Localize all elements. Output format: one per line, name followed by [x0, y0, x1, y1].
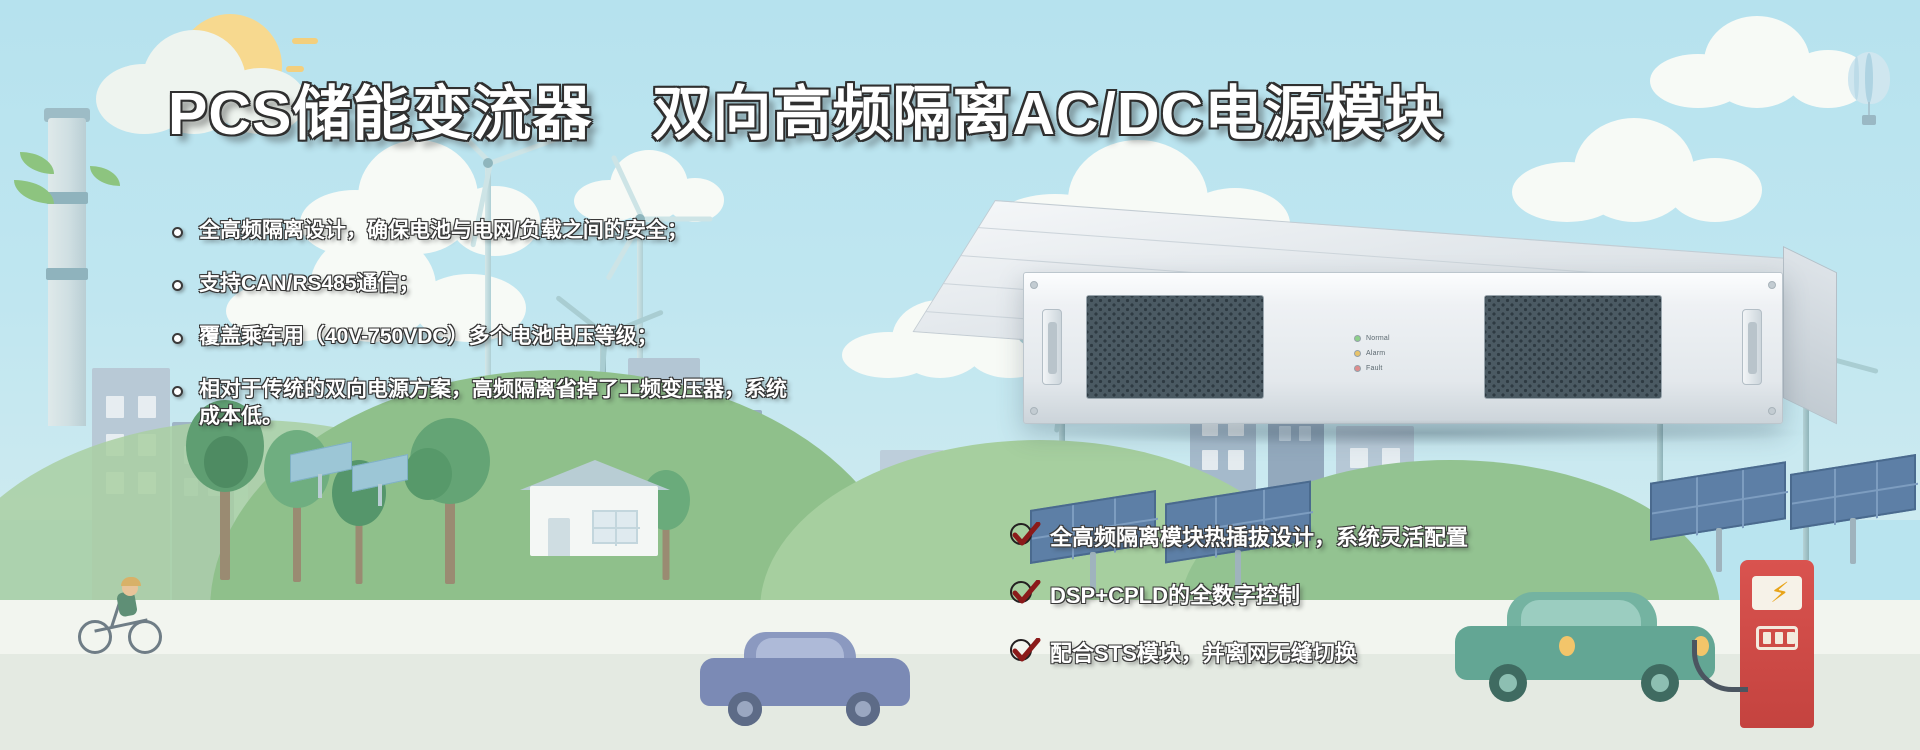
promotional-banner: ⚡ Normal	[0, 0, 1920, 750]
banner-title: PCS储能变流器 双向高频隔离AC/DC电源模块	[168, 66, 1444, 151]
screw-icon	[1030, 407, 1038, 415]
feature-bullet-item: 覆盖乘车用（40V-750VDC）多个电池电压等级；	[172, 324, 912, 351]
device-vent-grille-right	[1484, 295, 1662, 399]
screw-icon	[1768, 407, 1776, 415]
device-front-panel: Normal Alarm Fault	[1023, 272, 1783, 424]
solar-panel-icon	[1650, 472, 1790, 572]
ev-charging-station-icon: ⚡	[1740, 560, 1814, 728]
highlight-text: 配合STS模块，并离网无缝切换	[1050, 636, 1357, 668]
led-row-normal: Normal	[1354, 331, 1464, 346]
lightning-bolt-icon: ⚡	[1770, 578, 1790, 608]
device-vent-grille-left	[1086, 295, 1264, 399]
highlight-item: 配合STS模块，并离网无缝切换	[1010, 636, 1530, 668]
feature-bullet-item: 相对于传统的双向电源方案，高频隔离省掉了工频变压器，系统成本低。	[172, 377, 912, 431]
led-fault-label: Fault	[1366, 365, 1383, 372]
screw-icon	[1030, 281, 1038, 289]
checkmark-icon	[1010, 639, 1036, 665]
led-alarm-icon	[1354, 350, 1361, 357]
hot-air-balloon-icon	[1840, 52, 1898, 148]
feature-bullet-item: 支持CAN/RS485通信；	[172, 271, 912, 298]
solar-panel-icon	[352, 460, 410, 508]
device-side-panel	[1783, 246, 1837, 424]
highlight-item: DSP+CPLD的全数字控制	[1010, 578, 1530, 610]
feature-bullet-item: 全高频隔离设计，确保电池与电网/负载之间的安全；	[172, 218, 912, 245]
feature-bullet-text: 相对于传统的双向电源方案，高频隔离省掉了工频变压器，系统成本低。	[199, 377, 799, 431]
device-shadow	[1045, 420, 1805, 446]
highlight-text: 全高频隔离模块热插拔设计，系统灵活配置	[1050, 520, 1468, 552]
highlight-text: DSP+CPLD的全数字控制	[1050, 578, 1300, 610]
solar-panel-icon	[1790, 464, 1920, 564]
screw-icon	[1768, 281, 1776, 289]
feature-bullet-text: 覆盖乘车用（40V-750VDC）多个电池电压等级；	[199, 324, 658, 351]
device-handle-left	[1042, 309, 1062, 385]
led-alarm-label: Alarm	[1366, 350, 1385, 357]
cloud-shape	[1650, 16, 1870, 108]
device-handle-right	[1742, 309, 1762, 385]
bullet-dot-icon	[172, 386, 183, 397]
bullet-dot-icon	[172, 227, 183, 238]
pcs-device-image: Normal Alarm Fault	[955, 200, 1865, 470]
bullet-dot-icon	[172, 333, 183, 344]
cyclist-icon	[78, 580, 170, 658]
car-icon	[700, 630, 910, 722]
led-row-fault: Fault	[1354, 361, 1464, 376]
led-normal-label: Normal	[1366, 335, 1390, 342]
checkmark-icon	[1010, 523, 1036, 549]
cloud-shape	[574, 150, 724, 222]
feature-bullet-list: 全高频隔离设计，确保电池与电网/负载之间的安全； 支持CAN/RS485通信； …	[172, 218, 912, 456]
checkmark-icon	[1010, 581, 1036, 607]
led-row-alarm: Alarm	[1354, 346, 1464, 361]
highlight-list: 全高频隔离模块热插拔设计，系统灵活配置 DSP+CPLD的全数字控制 配合STS…	[1010, 520, 1530, 694]
house-shape	[520, 452, 670, 557]
highlight-item: 全高频隔离模块热插拔设计，系统灵活配置	[1010, 520, 1530, 552]
led-fault-icon	[1354, 365, 1361, 372]
device-status-indicators: Normal Alarm Fault	[1354, 331, 1464, 379]
led-normal-icon	[1354, 335, 1361, 342]
feature-bullet-text: 支持CAN/RS485通信；	[199, 271, 420, 298]
feature-bullet-text: 全高频隔离设计，确保电池与电网/负载之间的安全；	[199, 218, 688, 245]
bullet-dot-icon	[172, 280, 183, 291]
